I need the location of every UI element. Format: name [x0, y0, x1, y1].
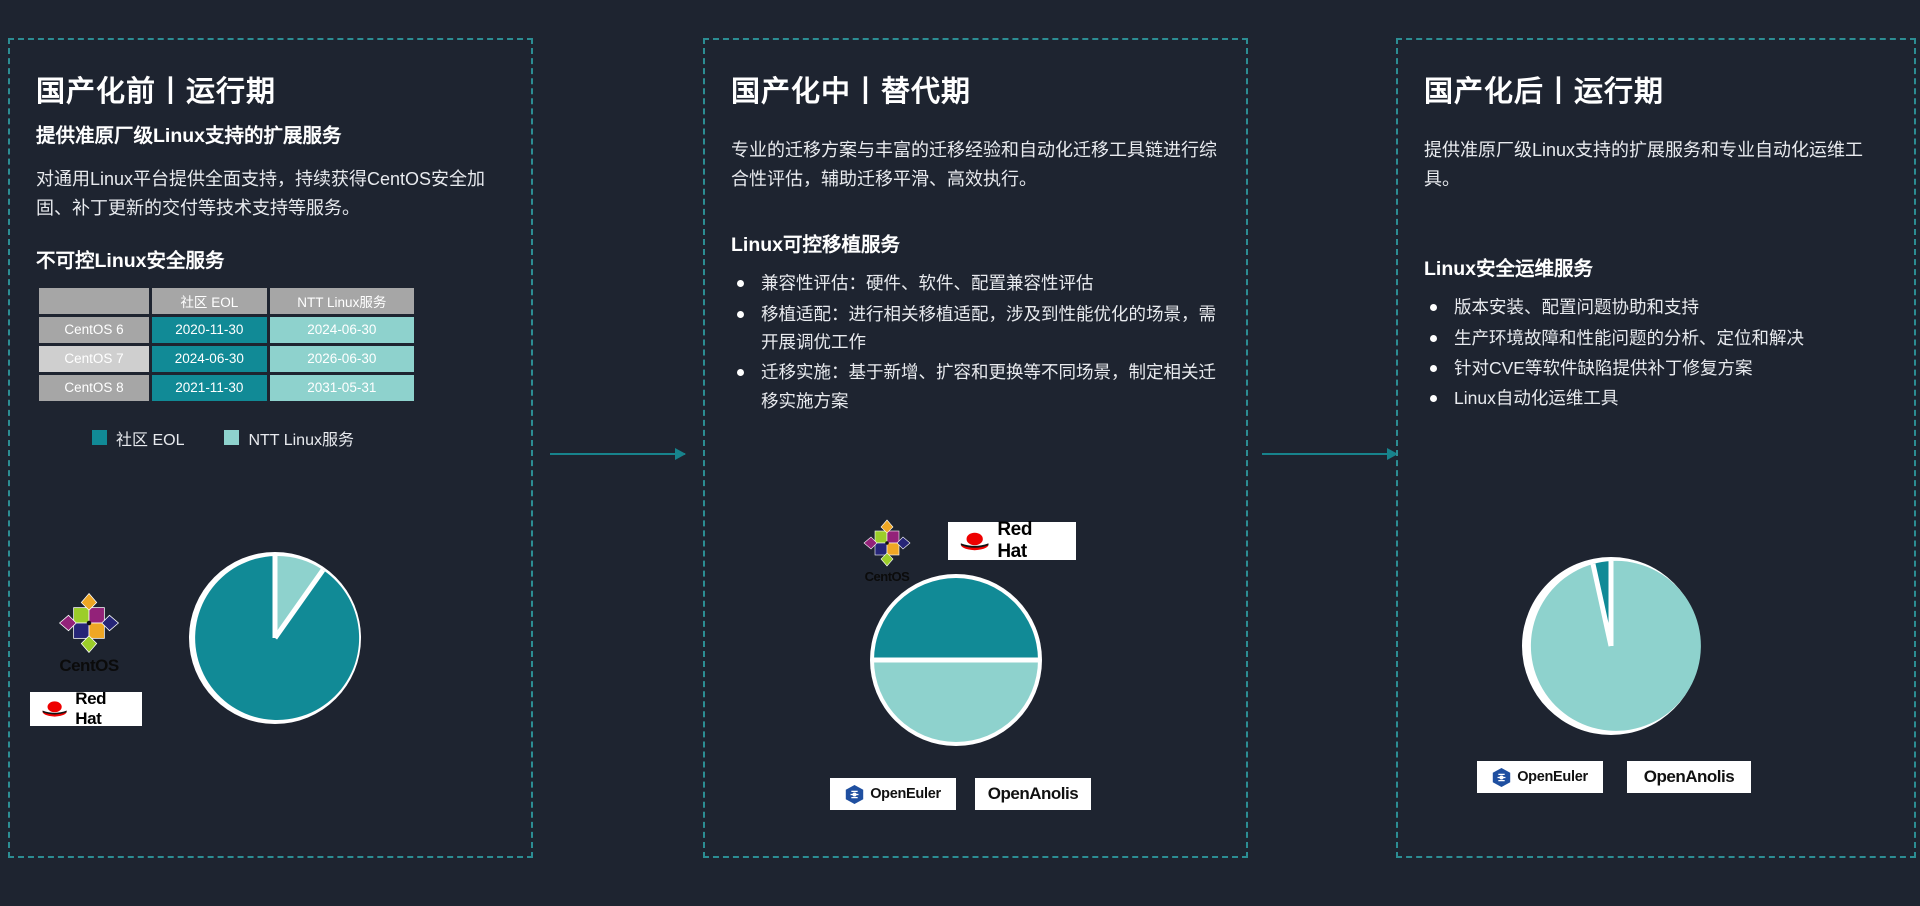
panel-title: 国产化后丨运行期 [1424, 68, 1888, 110]
table-header-row: 社区 EOL NTT Linux服务 [39, 288, 414, 314]
legend-item: NTT Linux服务 [224, 426, 354, 450]
cell-ntt-service: 2024-06-30 [270, 317, 414, 343]
centos-mark-icon [57, 591, 121, 655]
cell-community-eol: 2024-06-30 [152, 346, 267, 372]
arrow-right-icon [550, 453, 685, 455]
redhat-wordmark: Red Hat [75, 689, 131, 729]
redhat-logo: Red Hat [30, 692, 142, 726]
legend-swatch-icon [224, 430, 239, 445]
list-item: 迁移实施：基于新增、扩容和更换等不同场景，制定相关迁移实施方案 [731, 358, 1220, 415]
panel-subtitle: 提供准原厂级Linux支持的扩展服务 [36, 122, 505, 151]
cell-ntt-service: 2031-05-31 [270, 375, 414, 401]
panel-title: 国产化前丨运行期 [36, 68, 505, 110]
panel-description: 对通用Linux平台提供全面支持，持续获得CentOS安全加固、补丁更新的交付等… [36, 165, 505, 223]
openanolis-wordmark: OpenAnolis [988, 784, 1078, 804]
list-item: 针对CVE等软件缺陷提供补丁修复方案 [1424, 354, 1888, 382]
openanolis-wordmark: OpenAnolis [1644, 767, 1734, 787]
openanolis-logo: OpenAnolis [975, 778, 1091, 810]
pie-chart-after [1518, 553, 1704, 739]
chart-legend: 社区 EOL NTT Linux服务 [92, 426, 505, 450]
centos-wordmark: CentOS [48, 656, 130, 676]
list-item: Linux自动化运维工具 [1424, 384, 1888, 412]
redhat-fedora-icon [41, 698, 68, 720]
redhat-logo: Red Hat [948, 522, 1076, 560]
pie-chart-during [866, 570, 1046, 750]
list-item: 生产环境故障和性能问题的分析、定位和解决 [1424, 324, 1888, 352]
pie-slice-eol [874, 578, 1038, 660]
panel-before: 国产化前丨运行期 提供准原厂级Linux支持的扩展服务 对通用Linux平台提供… [8, 38, 533, 858]
table-header-ntt: NTT Linux服务 [270, 288, 414, 314]
bullet-list: 兼容性评估：硬件、软件、配置兼容性评估 移植适配：进行相关移植适配，涉及到性能优… [731, 269, 1220, 415]
section-heading: Linux安全运维服务 [1424, 252, 1888, 281]
openeuler-wordmark: OpenEuler [870, 786, 941, 802]
panel-description: 提供准原厂级Linux支持的扩展服务和专业自动化运维工具。 [1424, 136, 1888, 194]
legend-label: NTT Linux服务 [248, 426, 354, 450]
section-heading: 不可控Linux安全服务 [36, 244, 505, 273]
arrow-right-icon [1262, 453, 1397, 455]
pie-slice-ntt [874, 660, 1038, 742]
bullet-list: 版本安装、配置问题协助和支持 生产环境故障和性能问题的分析、定位和解决 针对CV… [1424, 293, 1888, 412]
cell-ntt-service: 2026-06-30 [270, 346, 414, 372]
openeuler-logo: OpenEuler [1477, 761, 1603, 793]
legend-label: 社区 EOL [116, 426, 184, 450]
row-label: CentOS 8 [39, 375, 149, 401]
list-item: 版本安装、配置问题协助和支持 [1424, 293, 1888, 321]
table-row: CentOS 6 2020-11-30 2024-06-30 [39, 317, 414, 343]
section-heading: Linux可控移植服务 [731, 228, 1220, 257]
openeuler-mark-icon [1492, 767, 1511, 788]
row-label: CentOS 7 [39, 346, 149, 372]
redhat-wordmark: Red Hat [997, 519, 1065, 563]
openeuler-wordmark: OpenEuler [1517, 769, 1588, 785]
legend-swatch-icon [92, 430, 107, 445]
list-item: 移植适配：进行相关移植适配，涉及到性能优化的场景，需开展调优工作 [731, 300, 1220, 357]
centos-logo: CentOS [48, 591, 130, 676]
cell-community-eol: 2021-11-30 [152, 375, 267, 401]
table-row: CentOS 8 2021-11-30 2031-05-31 [39, 375, 414, 401]
row-label: CentOS 6 [39, 317, 149, 343]
table-header-blank [39, 288, 149, 314]
openeuler-mark-icon [845, 784, 864, 805]
openeuler-logo: OpenEuler [830, 778, 956, 810]
cell-community-eol: 2020-11-30 [152, 317, 267, 343]
panel-description: 专业的迁移方案与丰富的迁移经验和自动化迁移工具链进行综合性评估，辅助迁移平滑、高… [731, 136, 1220, 194]
openanolis-logo: OpenAnolis [1627, 761, 1751, 793]
redhat-fedora-icon [959, 530, 990, 553]
infographic-root: 国产化前丨运行期 提供准原厂级Linux支持的扩展服务 对通用Linux平台提供… [0, 0, 1920, 906]
centos-mark-icon [862, 518, 912, 568]
panel-title: 国产化中丨替代期 [731, 68, 1220, 110]
table-header-community: 社区 EOL [152, 288, 267, 314]
pie-slice-ntt [1531, 561, 1701, 731]
pie-chart-before [185, 548, 365, 728]
legend-item: 社区 EOL [92, 426, 184, 450]
eol-table: 社区 EOL NTT Linux服务 CentOS 6 2020-11-30 2… [36, 285, 417, 404]
list-item: 兼容性评估：硬件、软件、配置兼容性评估 [731, 269, 1220, 297]
table-row: CentOS 7 2024-06-30 2026-06-30 [39, 346, 414, 372]
